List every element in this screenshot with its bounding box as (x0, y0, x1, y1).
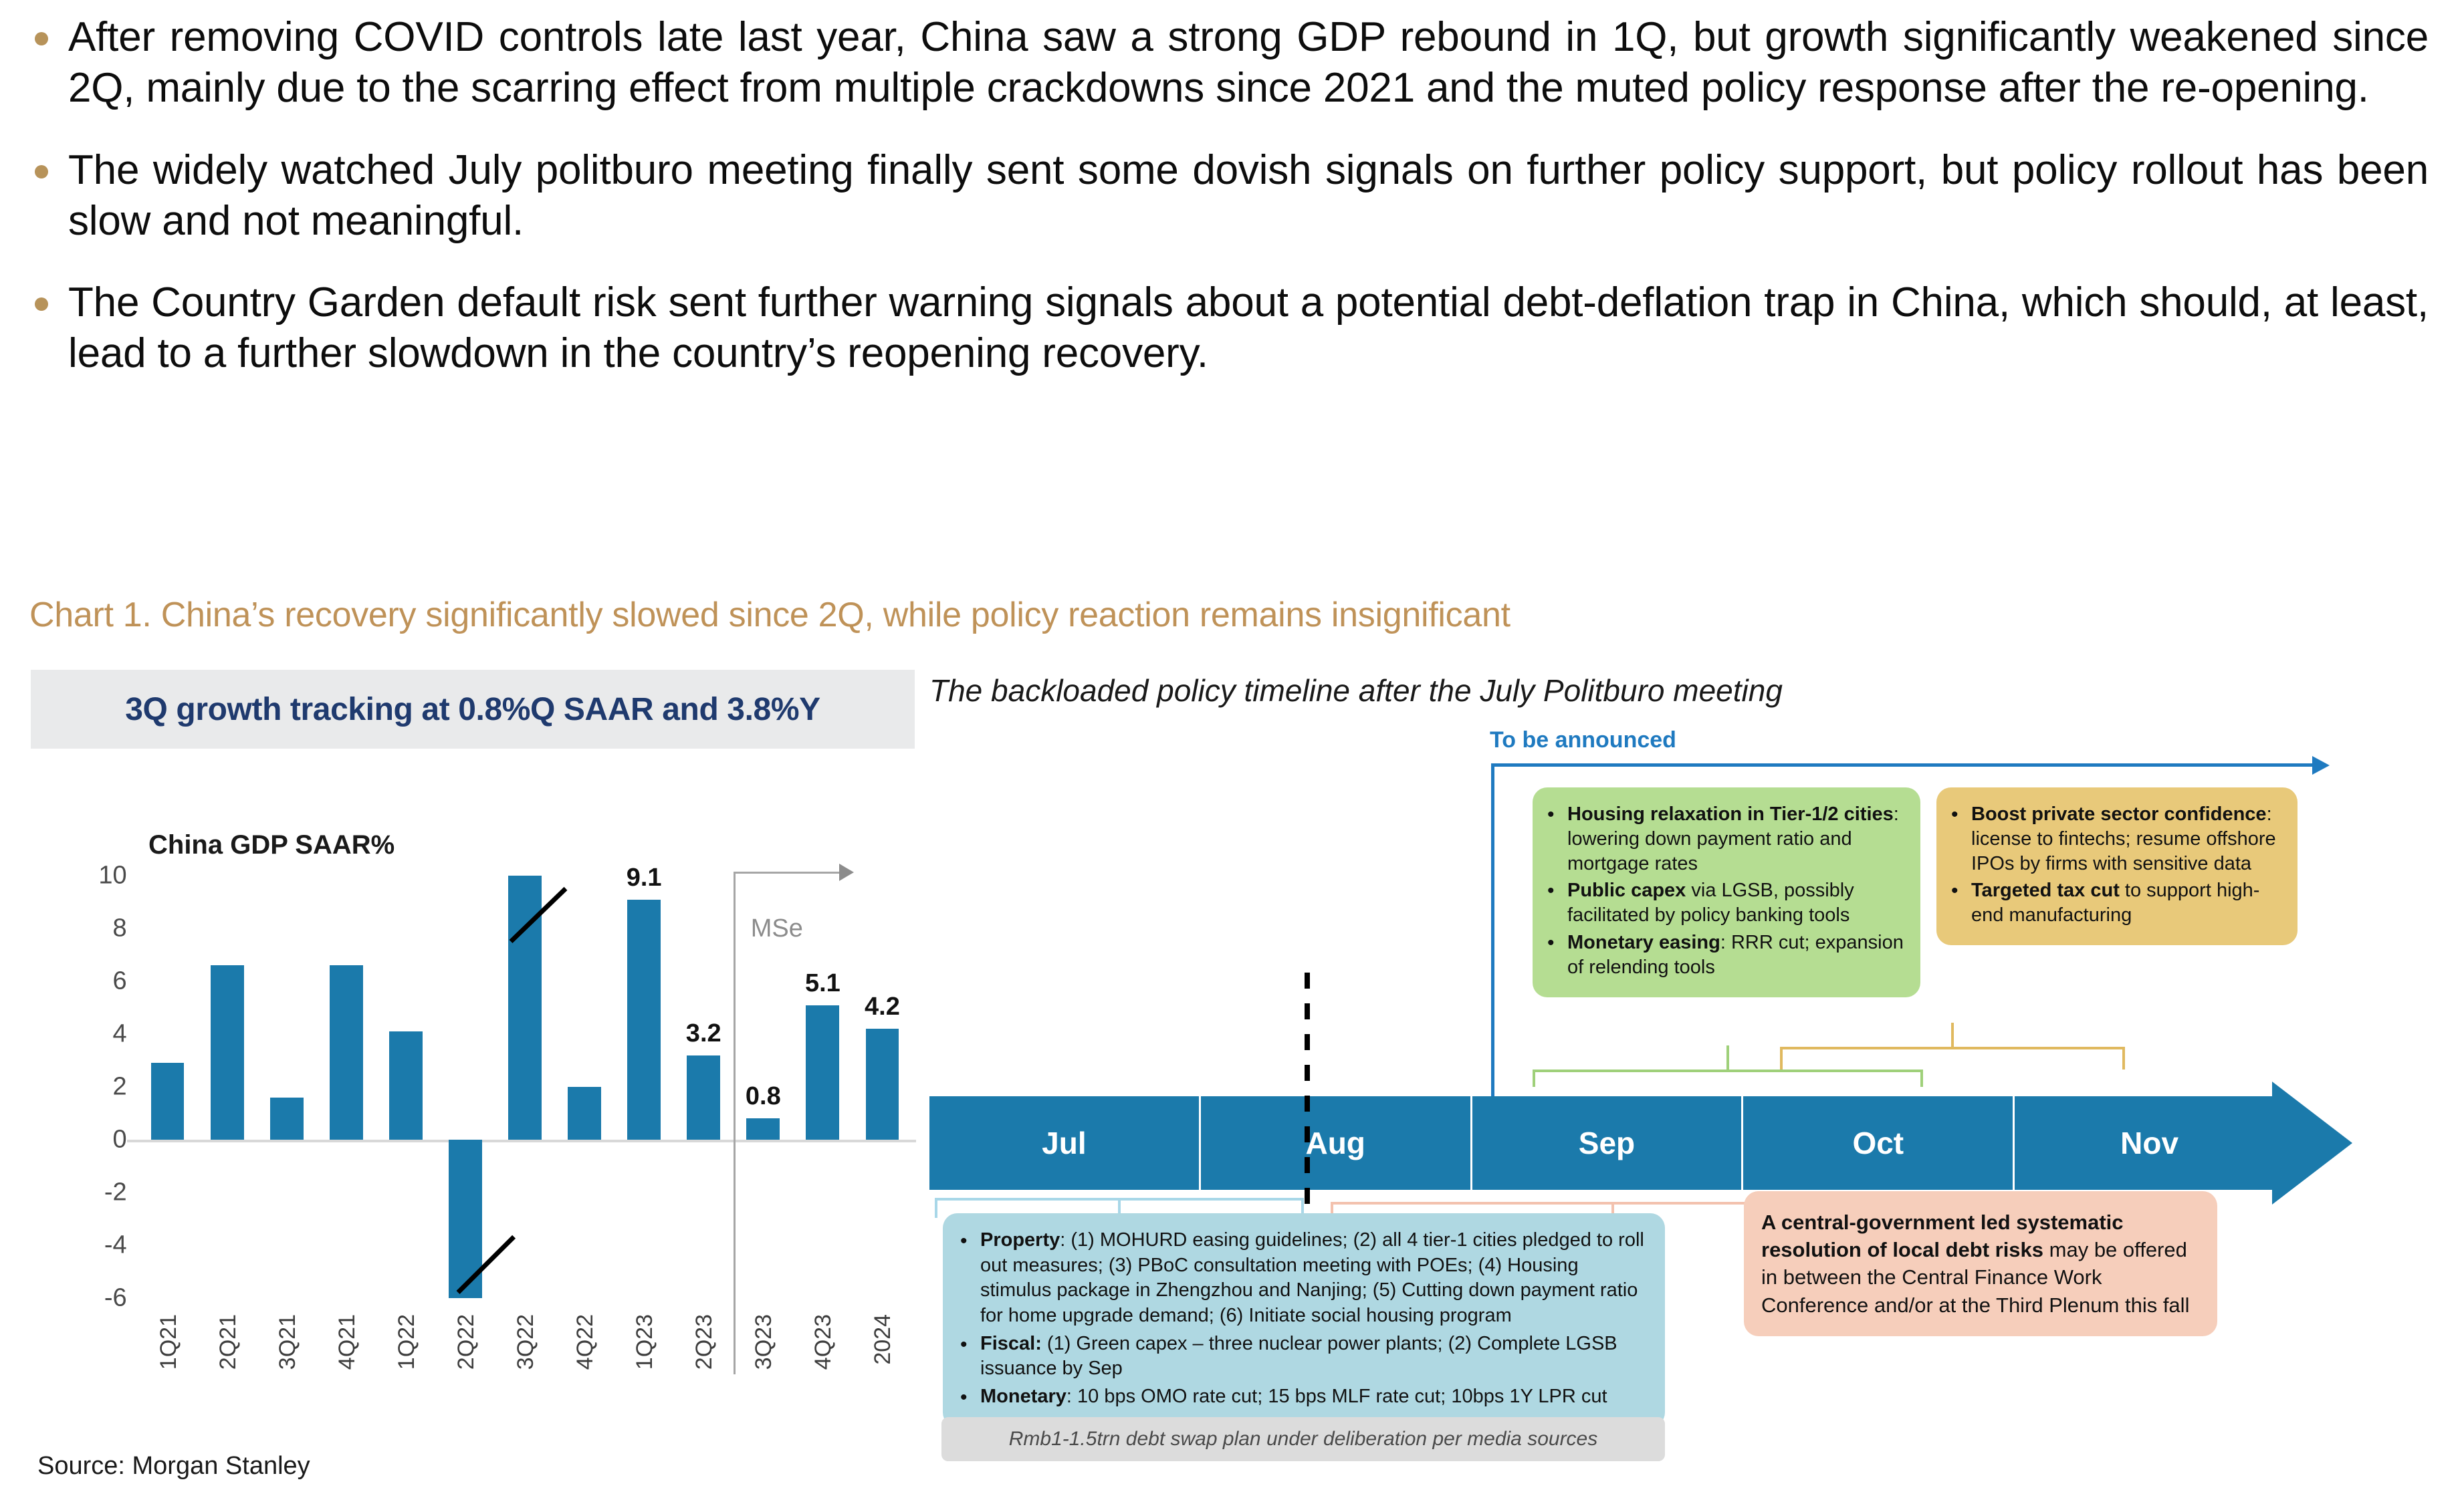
bar-value-label: 0.8 (746, 1082, 781, 1111)
to-be-announced-arrow-line (1491, 763, 2314, 767)
bullet-dot-icon (35, 165, 48, 178)
bar-2Q21 (211, 965, 244, 1140)
emphasis-text: Housing relaxation in Tier-1/2 cities (1567, 803, 1894, 825)
callout-blue-announced: Property: (1) MOHURD easing guidelines; … (943, 1213, 1665, 1427)
x-axis-label: 3Q23 (751, 1314, 777, 1370)
emphasis-text: Fiscal: (980, 1333, 1042, 1354)
bracket-gold (1780, 1047, 2125, 1096)
month-cell-sep[interactable]: Sep (1472, 1096, 1744, 1190)
debt-swap-note-bar: Rmb1-1.5trn debt swap plan under deliber… (941, 1417, 1665, 1461)
callout-pink-debt: A central-government led systematic reso… (1744, 1191, 2217, 1336)
month-cell-nov[interactable]: Nov (2015, 1096, 2284, 1190)
y-axis-tick: 6 (113, 967, 136, 996)
timeline-title: The backloaded policy timeline after the… (929, 672, 1783, 709)
gdp-bar-chart: China GDP SAAR% 1086420-2-4-61Q212Q213Q2… (31, 837, 920, 1438)
detail-text: : 10 bps OMO rate cut; 15 bps MLF rate c… (1067, 1386, 1607, 1407)
bullet-dot-icon (35, 32, 48, 45)
bar-4Q22 (568, 1087, 601, 1140)
x-axis-label: 3Q22 (513, 1314, 539, 1370)
bar-1Q22 (389, 1031, 423, 1140)
bullet-text: After removing COVID controls late last … (68, 12, 2429, 114)
x-axis-label: 1Q23 (632, 1314, 658, 1370)
debt-swap-note-text: Rmb1-1.5trn debt swap plan under deliber… (1009, 1428, 1598, 1451)
bar-4Q23 (806, 1005, 839, 1140)
list-item: The Country Garden default risk sent fur… (35, 277, 2429, 380)
callout-list-item: Boost private sector confidence: license… (1971, 802, 2283, 876)
forecast-divider (734, 872, 736, 1374)
forecast-label: MSe (751, 914, 803, 943)
x-axis-label: 1Q21 (156, 1314, 182, 1370)
x-axis-label: 2Q23 (691, 1314, 717, 1370)
saar-banner-text: 3Q growth tracking at 0.8%Q SAAR and 3.8… (125, 691, 820, 728)
list-item: After removing COVID controls late last … (35, 12, 2429, 114)
month-cell-aug[interactable]: Aug (1201, 1096, 1472, 1190)
x-axis-label: 4Q22 (572, 1314, 598, 1370)
month-timeline: JulAugSepOctNov (929, 1096, 2447, 1190)
y-axis-tick: 2 (113, 1073, 136, 1102)
callout-green: Housing relaxation in Tier-1/2 cities: l… (1533, 787, 1920, 997)
x-axis-label: 4Q23 (810, 1314, 836, 1370)
emphasis-text: Property (980, 1229, 1060, 1251)
to-be-announced-label: To be announced (1490, 727, 1676, 753)
bullet-dot-icon (35, 297, 48, 311)
callout-list-item: Targeted tax cut to support high-end man… (1971, 878, 2283, 928)
emphasis-text: Targeted tax cut (1971, 880, 2120, 901)
to-be-announced-stem (1491, 763, 1494, 1110)
list-item: The widely watched July politburo meetin… (35, 145, 2429, 247)
month-cell-oct[interactable]: Oct (1743, 1096, 2015, 1190)
y-axis-tick: -2 (104, 1178, 136, 1207)
timeline-arrow-icon (2272, 1082, 2352, 1205)
bar-3Q21 (270, 1098, 304, 1140)
y-axis-tick: -4 (104, 1231, 136, 1260)
y-axis-tick: 10 (98, 862, 136, 890)
page-title: Chart 1. China’s recovery significantly … (29, 595, 1510, 635)
gdp-chart-panel: 3Q growth tracking at 0.8%Q SAAR and 3.8… (31, 670, 920, 1438)
bar-value-label: 5.1 (805, 969, 841, 998)
source-note: Source: Morgan Stanley (37, 1452, 310, 1481)
bar-value-label: 3.2 (686, 1019, 721, 1048)
x-axis-label: 1Q22 (394, 1314, 420, 1370)
month-strip: JulAugSepOctNov (929, 1096, 2284, 1190)
x-axis-label: 2024 (870, 1314, 896, 1365)
emphasis-text: Boost private sector confidence (1971, 803, 2267, 825)
x-axis-label: 4Q21 (334, 1314, 360, 1370)
bar-3Q23 (746, 1118, 780, 1140)
callout-list-item: Fiscal: (1) Green capex – three nuclear … (980, 1332, 1648, 1382)
callout-list-item: Property: (1) MOHURD easing guidelines; … (980, 1228, 1648, 1329)
chart-series-label: China GDP SAAR% (148, 830, 395, 860)
detail-text: : (1) MOHURD easing guidelines; (2) all … (980, 1229, 1644, 1326)
callout-gold: Boost private sector confidence: license… (1936, 787, 2298, 945)
bar-2024 (866, 1029, 899, 1140)
emphasis-text: Monetary (980, 1386, 1067, 1407)
plot-area: 1086420-2-4-61Q212Q213Q214Q211Q222Q223Q2… (138, 876, 912, 1298)
y-axis-tick: 8 (113, 914, 136, 943)
callout-list-item: Monetary easing: RRR cut; expansion of r… (1567, 930, 1906, 980)
x-axis-label: 3Q21 (275, 1314, 301, 1370)
month-cell-jul[interactable]: Jul (929, 1096, 1201, 1190)
bullet-text: The Country Garden default risk sent fur… (68, 277, 2429, 380)
bar-value-label: 4.2 (865, 993, 900, 1021)
callout-list-item: Monetary: 10 bps OMO rate cut; 15 bps ML… (980, 1384, 1648, 1410)
callout-list-item: Public capex via LGSB, possibly facilita… (1567, 878, 1906, 928)
x-axis-label: 2Q22 (453, 1314, 479, 1370)
forecast-arrow-icon (839, 864, 854, 881)
to-be-announced-arrow-icon (2312, 756, 2330, 775)
bar-1Q23 (627, 900, 661, 1140)
callout-list-item: Housing relaxation in Tier-1/2 cities: l… (1567, 802, 1906, 876)
bar-4Q21 (330, 965, 363, 1140)
bar-2Q23 (687, 1055, 720, 1140)
emphasis-text: Monetary easing (1567, 932, 1720, 953)
y-axis-tick: 4 (113, 1020, 136, 1049)
bullet-text: The widely watched July politburo meetin… (68, 145, 2429, 247)
saar-banner: 3Q growth tracking at 0.8%Q SAAR and 3.8… (31, 670, 915, 749)
y-axis-tick: -6 (104, 1284, 136, 1313)
key-points-list: After removing COVID controls late last … (35, 12, 2429, 410)
detail-text: (1) Green capex – three nuclear power pl… (980, 1333, 1617, 1380)
bar-1Q21 (151, 1063, 185, 1140)
bar-value-label: 9.1 (627, 864, 662, 892)
forecast-arrow-line (734, 872, 841, 874)
x-axis-label: 2Q21 (215, 1314, 241, 1370)
zero-baseline (127, 1140, 916, 1142)
policy-timeline-panel: The backloaded policy timeline after the… (929, 668, 2447, 1471)
emphasis-text: Public capex (1567, 880, 1686, 901)
